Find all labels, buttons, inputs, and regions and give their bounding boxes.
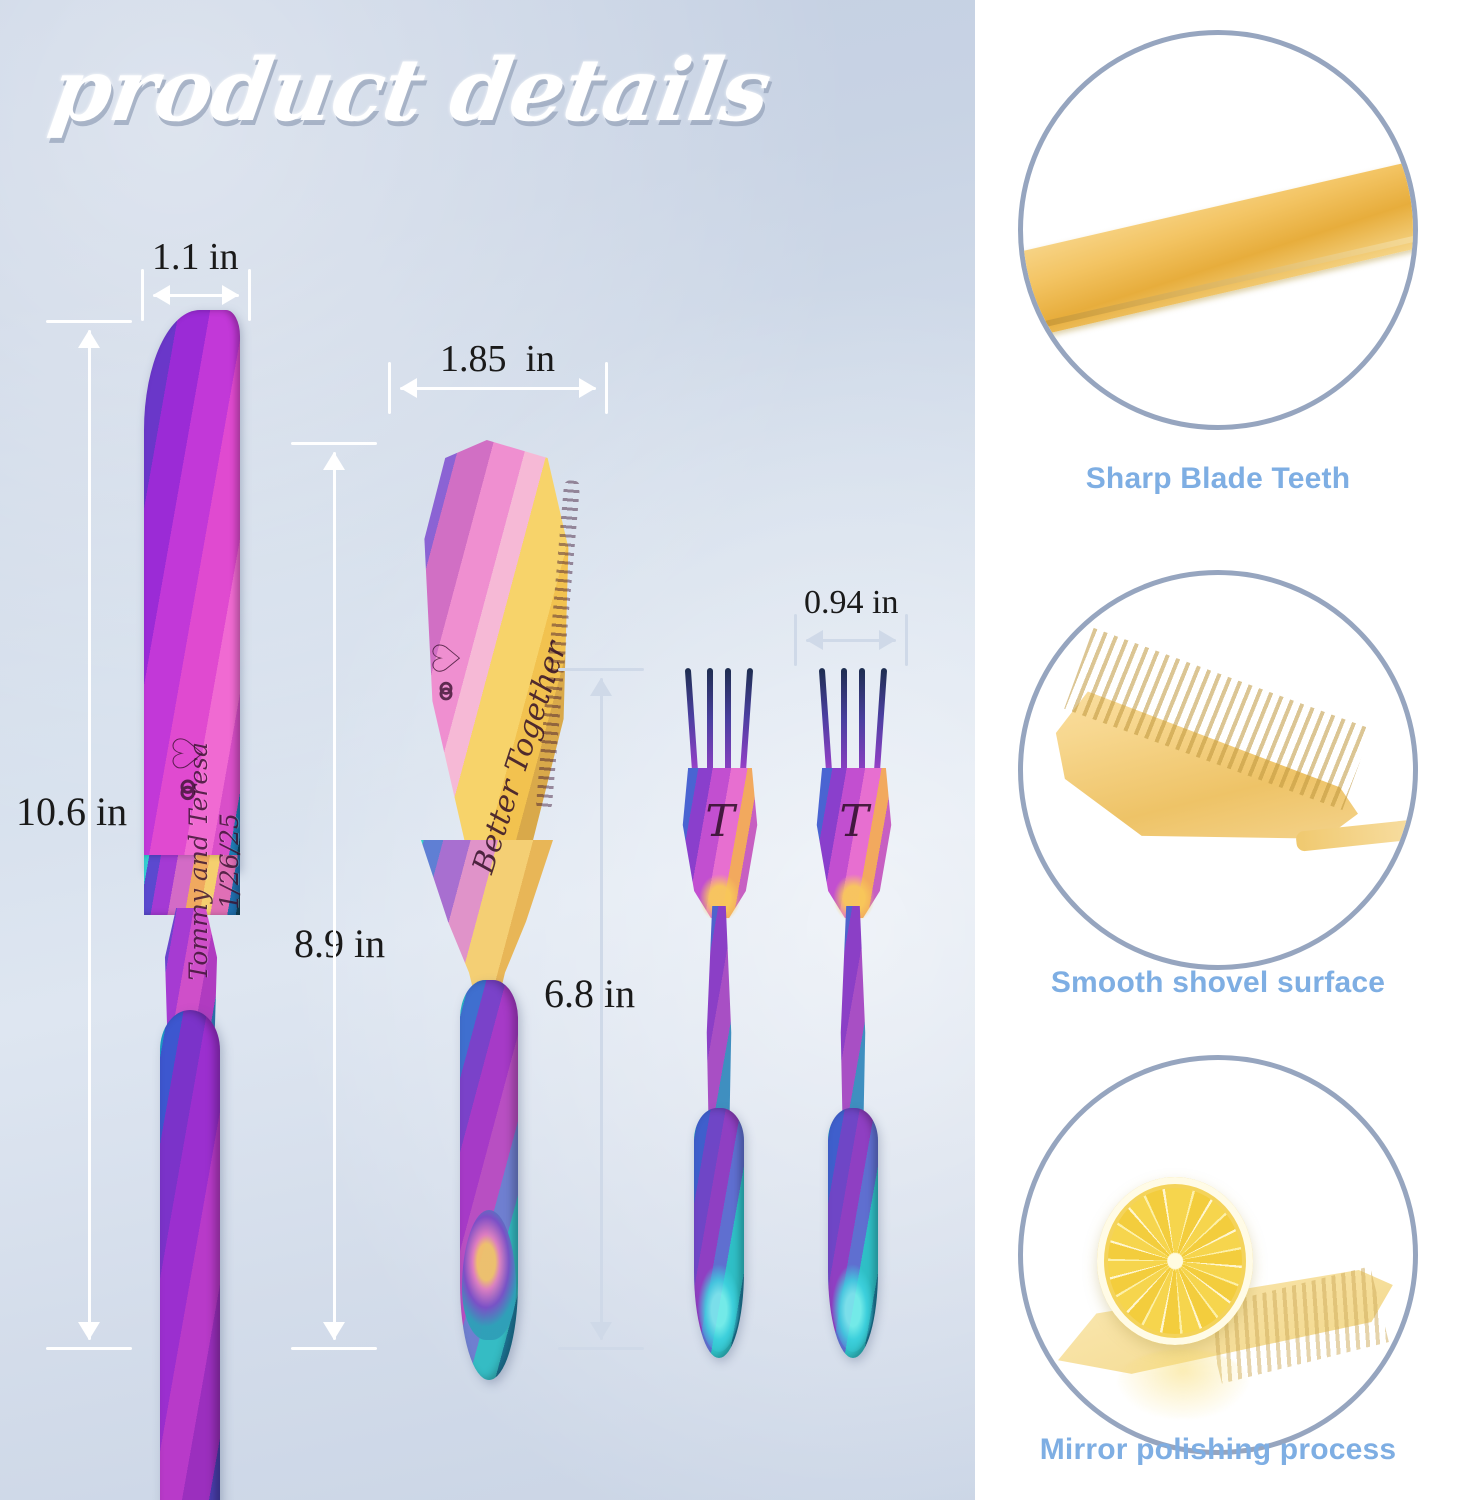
feature-mirror-polishing-process: Mirror polishing process [975,1055,1461,1500]
fork-monogram: T [672,796,768,847]
dimension-tick [141,269,144,321]
arrow-left-icon [400,378,417,398]
dimension-label-server-length: 8.9 in [294,924,385,964]
dimension-tick [388,362,391,414]
rainbow-dessert-fork-1: T [672,668,768,1358]
feature-caption-2: Smooth shovel surface [975,966,1461,1000]
arrow-down-icon [590,1322,612,1340]
dimension-tick [248,269,251,321]
arrow-left-icon [806,630,823,650]
rainbow-cake-server: Better Together ⚭♡ [400,440,590,1360]
dimension-bar [400,387,596,390]
dimension-label-server-width: 1.85 in [440,340,555,378]
dimension-label-knife-width: 1.1 in [152,238,239,276]
arrow-right-icon [579,378,596,398]
rainbow-cake-knife: Tommy and Teresa 1/26/25 ⚭♡ [130,310,248,1360]
lemon-half-icon [1097,1177,1253,1345]
dimension-tick [46,1347,132,1350]
arrow-up-icon [323,452,345,470]
feature-caption-1: Sharp Blade Teeth [975,462,1461,496]
dimension-tick [291,1347,377,1350]
dimension-tick [605,362,608,414]
arrow-up-icon [78,330,100,348]
fork-monogram: T [806,796,902,847]
arrow-right-icon [879,630,896,650]
feature-image-circle-3 [1018,1055,1418,1455]
arrow-up-icon [590,678,612,696]
dimension-tick [794,614,797,666]
feature-sharp-blade-teeth: Sharp Blade Teeth [975,30,1461,510]
dimension-bar [333,452,336,1340]
dimension-tick [558,668,644,671]
knife-handle [160,1010,220,1500]
right-features-panel: Sharp Blade Teeth Smooth shovel surface … [975,0,1461,1500]
feature-image-circle-2 [1018,570,1418,970]
arrow-right-icon [222,285,239,305]
rainbow-dessert-fork-2: T [806,668,902,1358]
page-title: product details [45,48,775,134]
dimension-tick [905,614,908,666]
lemon-core [1167,1252,1183,1269]
knife-ring-heart-icon: ⚭♡ [168,716,210,826]
lemon-reflection [1117,1349,1250,1419]
feature-image-circle-1 [1018,30,1418,430]
dimension-label-fork-width: 0.94 in [804,586,898,620]
arrow-down-icon [323,1322,345,1340]
feature-smooth-shovel-surface: Smooth shovel surface [975,570,1461,1050]
dimension-tick [291,442,377,445]
dimension-tick [46,320,132,323]
dimension-bar [600,678,603,1340]
fork-neck [702,906,736,1136]
product-details-infographic: product details Tommy and Teresa 1/26/25… [0,0,1461,1500]
dimension-bar [88,330,91,1340]
feature-caption-3: Mirror polishing process [975,1433,1461,1467]
dimension-label-knife-length: 10.6 in [16,792,127,832]
arrow-left-icon [153,285,170,305]
fork-neck [836,906,870,1136]
arrow-down-icon [78,1322,100,1340]
dimension-label-fork-length: 6.8 in [544,974,635,1014]
knife-blade-lower [144,855,240,915]
dimension-tick [558,1347,644,1350]
left-dimensions-panel: product details Tommy and Teresa 1/26/25… [0,0,975,1500]
server-ring-heart-icon: ⚭♡ [428,619,466,729]
